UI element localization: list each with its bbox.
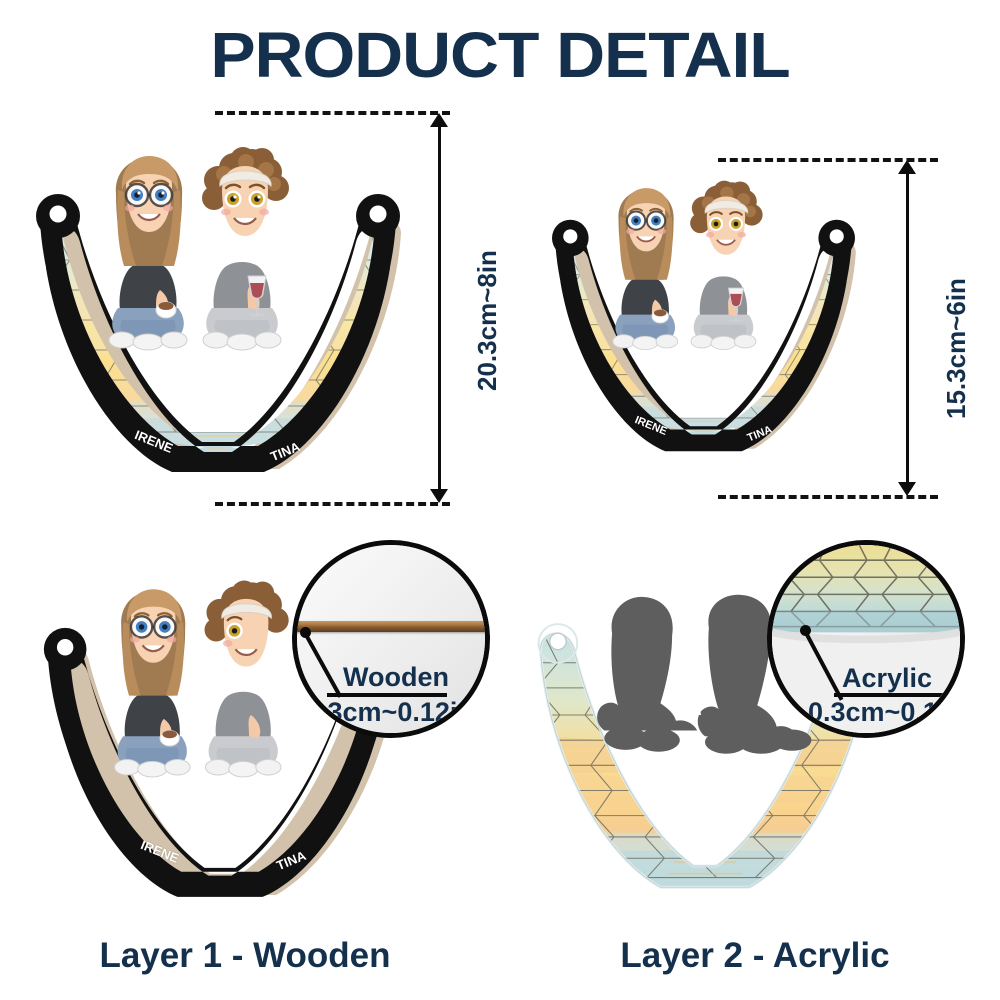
callout-magnifier-wooden: Wooden 0.3cm~0.12in [292, 540, 490, 738]
arrow-head-down-icon [430, 489, 448, 503]
dimension-arrow-large [429, 113, 449, 503]
character-irene [109, 156, 187, 350]
ornament-small: IRENE TINA [537, 183, 870, 458]
arrow-shaft [438, 123, 441, 493]
page-title: PRODUCT DETAIL [0, 18, 1000, 92]
callout-magnifier-acrylic: Acrylic 0.3cm~0.12in [767, 540, 965, 738]
arrow-shaft [906, 170, 909, 486]
character-tina [690, 181, 762, 350]
character-group [115, 580, 289, 776]
ornament-large: IRENE TINA [18, 150, 418, 480]
dimension-label-small: 15.3cm~6in [941, 278, 972, 419]
product-detail-canvas: PRODUCT DETAIL 20.3cm~8in [0, 0, 1000, 1000]
arrow-head-down-icon [898, 482, 916, 496]
character-tina [202, 147, 289, 350]
wood-edge-strip [292, 621, 490, 632]
caption-layer-2: Layer 2 - Acrylic [510, 936, 1000, 976]
dimension-arrow-small [897, 160, 917, 496]
caption-layer-1: Layer 1 - Wooden [0, 936, 490, 976]
dashed-guide-top-left [215, 111, 450, 115]
callout-thickness-acrylic: 0.3cm~0.12in [808, 697, 965, 728]
callout-title-wooden: Wooden [343, 662, 449, 693]
character-tina [205, 580, 289, 776]
dashed-guide-bottom-left [215, 502, 450, 506]
character-irene [115, 589, 190, 777]
character-group [109, 147, 289, 350]
character-irene [613, 188, 678, 350]
callout-thickness-wooden: 0.3cm~0.12in [305, 697, 474, 728]
callout-title-acrylic: Acrylic [842, 663, 932, 694]
dimension-label-large: 20.3cm~8in [472, 250, 503, 391]
character-group [613, 181, 763, 350]
